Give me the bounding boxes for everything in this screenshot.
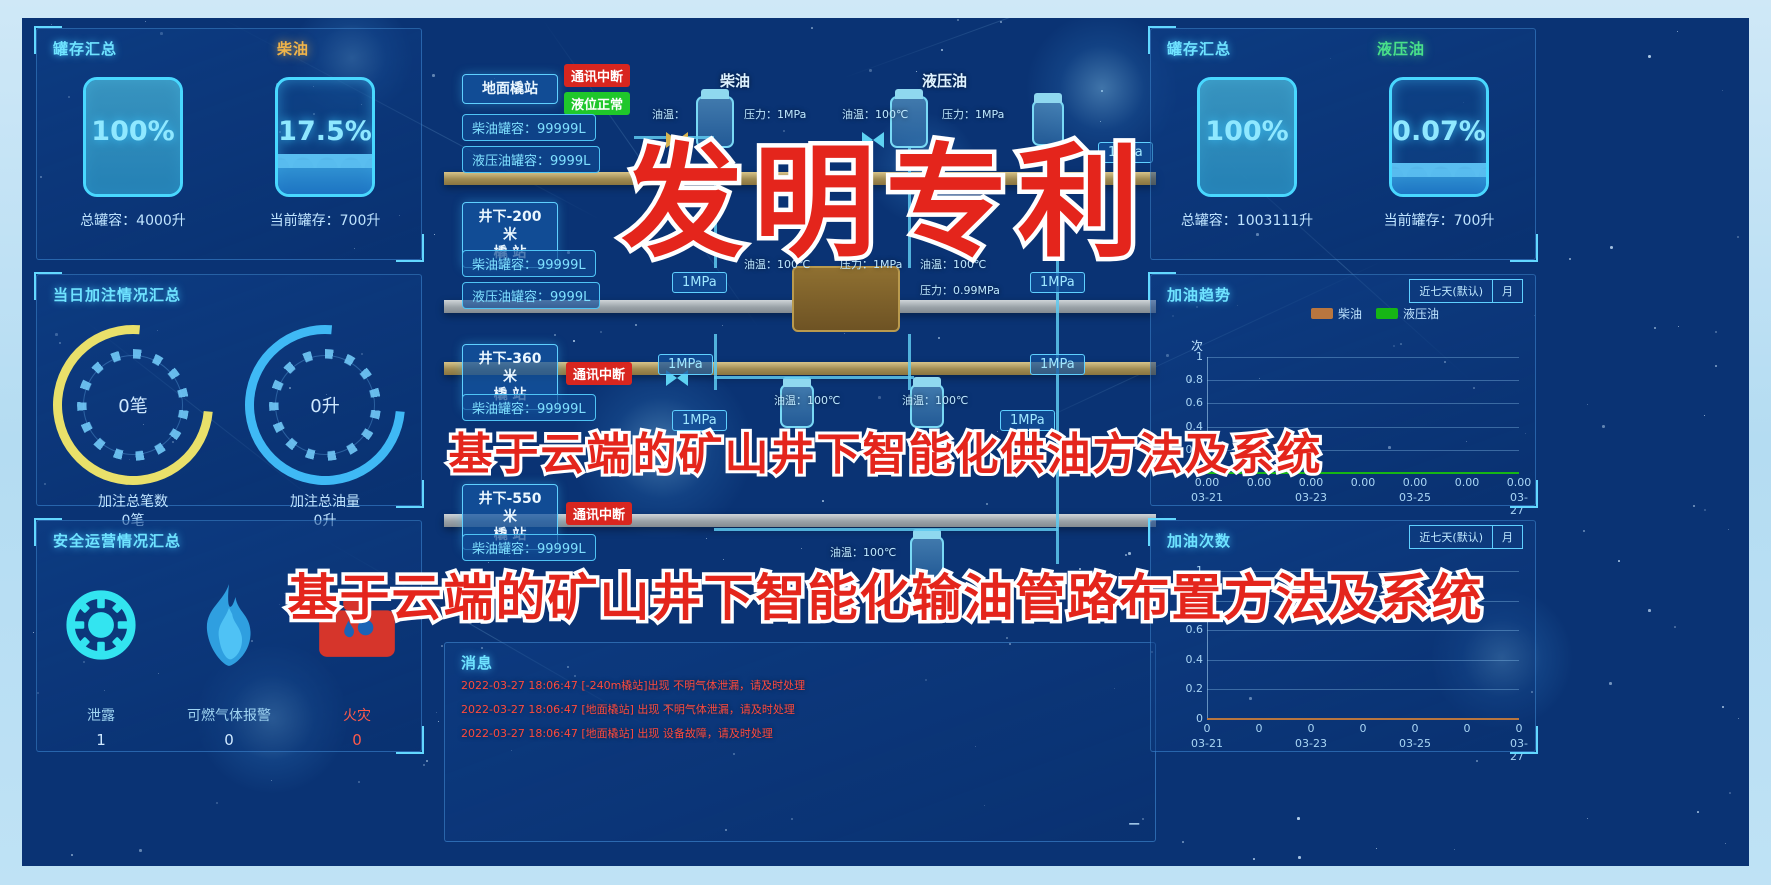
- safety-item-label: 火灾: [297, 705, 417, 725]
- panel-title: 罐存汇总: [53, 38, 117, 59]
- tank-percent: 0.07%: [1392, 116, 1486, 147]
- tank-percent: 17.5%: [278, 116, 372, 147]
- station-surface-label[interactable]: 地面橇站: [462, 74, 558, 104]
- tank-total-capacity: 100% 总罐容：1003111升: [1172, 77, 1322, 230]
- capacity-diesel-surface: 柴油罐容：99999L: [462, 114, 596, 141]
- tank-shape: 100%: [1197, 77, 1297, 197]
- range-button-month[interactable]: 月: [1492, 279, 1523, 303]
- tank-percent: 100%: [86, 116, 180, 147]
- refuel-gauge-row: 0笔 加注总笔数 0笔 0升 加注总油量 0升: [37, 325, 421, 485]
- capacity-diesel-200m: 柴油罐容：99999L: [462, 250, 596, 277]
- panel-diesel-tank-summary: 罐存汇总 柴油 100% 总罐容：4000升 17.5% 当前罐存：700升: [36, 28, 422, 260]
- safety-item-gas-alarm: 可燃气体报警 0: [169, 579, 289, 749]
- flame-icon: [169, 579, 289, 671]
- message-log-panel: 消息 2022-03-27 18:06:47 [-240m橇站]出现 不明气体泄…: [444, 642, 1156, 842]
- range-button-week[interactable]: 近七天(默认): [1409, 279, 1492, 303]
- gauge-caption-line1: 加注总油量: [290, 494, 360, 510]
- status-badge-comm: 通讯中断: [564, 64, 630, 87]
- watermark-title: 发明专利: [622, 104, 1150, 281]
- pipe-cross-360m: [714, 376, 914, 379]
- tank-caption: 当前罐存：700升: [250, 210, 400, 230]
- gauge-refuel-count: 0笔 加注总笔数 0笔: [53, 325, 213, 485]
- tank-shape: 17.5%: [275, 77, 375, 197]
- product-label-diesel: 柴油: [277, 38, 309, 59]
- tank-current-stock: 0.07% 当前罐存：700升: [1364, 77, 1514, 230]
- watermark-line1: 基于云端的矿山井下智能化供油方法及系统: [449, 418, 1323, 482]
- sensor-tag: 压力：0.99MPa: [920, 282, 1000, 298]
- gear-icon: [41, 579, 161, 671]
- status-badge-level: 液位正常: [564, 92, 630, 115]
- tank-caption: 总罐容：1003111升: [1172, 210, 1322, 230]
- gauge-caption-line1: 加注总笔数: [98, 494, 168, 510]
- station-label-line1: 井下-550米: [478, 491, 541, 525]
- gauge-value: 0笔: [53, 325, 213, 485]
- pipe-cross-550m: [714, 528, 1058, 531]
- range-button-group[interactable]: 近七天(默认) 月: [1409, 525, 1523, 549]
- station-label-line1: 井下-360米: [478, 351, 541, 385]
- sensor-tag: 油温：100℃: [774, 392, 840, 408]
- message-line: 2022-03-27 18:06:47 [地面橇站] 出现 不明气体泄漏，请及时…: [461, 701, 795, 717]
- tank-caption: 当前罐存：700升: [1364, 210, 1514, 230]
- safety-item-label: 可燃气体报警: [169, 705, 289, 725]
- panel-safety-summary: 安全运营情况汇总: [36, 520, 422, 752]
- tank-current-stock: 17.5% 当前罐存：700升: [250, 77, 400, 230]
- column-header-hydraulic: 液压油: [922, 70, 967, 91]
- panel-title: 加油次数: [1167, 530, 1231, 551]
- tank-total-capacity: 100% 总罐容：4000升: [58, 77, 208, 230]
- pressure-tag: 1MPa: [658, 354, 713, 375]
- panel-title: 加油趋势: [1167, 284, 1231, 305]
- safety-item-label: 泄露: [41, 705, 161, 725]
- panel-title: 当日加注情况汇总: [53, 284, 181, 305]
- range-button-group[interactable]: 近七天(默认) 月: [1409, 279, 1523, 303]
- message-line: 2022-03-27 18:06:47 [-240m橇站]出现 不明气体泄漏，请…: [461, 677, 805, 693]
- range-button-week[interactable]: 近七天(默认): [1409, 525, 1492, 549]
- dashboard-board: 罐存汇总 柴油 100% 总罐容：4000升 17.5% 当前罐存：700升: [22, 18, 1749, 866]
- screenshot-root: 罐存汇总 柴油 100% 总罐容：4000升 17.5% 当前罐存：700升: [0, 0, 1771, 885]
- range-button-month[interactable]: 月: [1492, 525, 1523, 549]
- safety-item-value: 0: [297, 731, 417, 749]
- sensor-tag: 油温：100℃: [902, 392, 968, 408]
- panel-title: 消息: [461, 652, 493, 673]
- status-badge-comm-550m: 通讯中断: [566, 502, 632, 525]
- capacity-hydraulic-200m: 液压油罐容：9999L: [462, 282, 600, 309]
- pressure-tag: 1MPa: [1030, 354, 1085, 375]
- capacity-diesel-360m: 柴油罐容：99999L: [462, 394, 596, 421]
- message-line: 2022-03-27 18:06:47 [地面橇站] 出现 设备故障，请及时处理: [461, 725, 773, 741]
- pipe-vertical-hydraulic-2: [908, 334, 911, 390]
- safety-item-value: 1: [41, 731, 161, 749]
- tank-percent: 100%: [1200, 116, 1294, 147]
- gauge-refuel-volume: 0升 加注总油量 0升: [245, 325, 405, 485]
- column-header-diesel: 柴油: [720, 70, 750, 91]
- panel-title: 罐存汇总: [1167, 38, 1231, 59]
- panel-hydraulic-tank-summary: 罐存汇总 液压油 100% 总罐容：1003111升 0.07% 当前罐存：70…: [1150, 28, 1536, 260]
- tank-shape: 0.07%: [1389, 77, 1489, 197]
- tank-caption: 总罐容：4000升: [58, 210, 208, 230]
- pipe-vertical-diesel-2: [714, 334, 717, 390]
- safety-item-leak: 泄露 1: [41, 579, 161, 749]
- tank-gauge-row: 100% 总罐容：1003111升 0.07% 当前罐存：700升: [1151, 77, 1535, 230]
- minus-icon[interactable]: −: [1128, 814, 1141, 833]
- status-badge-comm-360m: 通讯中断: [566, 362, 632, 385]
- capacity-hydraulic-surface: 液压油罐容：9999L: [462, 146, 600, 173]
- panel-refuel-count: 加油次数 近七天(默认) 月 10.80.60.40.20003-210003-…: [1150, 520, 1536, 752]
- station-label-line1: 井下-200米: [478, 209, 541, 243]
- gauge-value: 0升: [245, 325, 405, 485]
- watermark-line2: 基于云端的矿山井下智能化输油管路布置方法及系统: [288, 558, 1484, 630]
- product-label-hydraulic: 液压油: [1377, 38, 1425, 59]
- tank-gauge-row: 100% 总罐容：4000升 17.5% 当前罐存：700升: [37, 77, 421, 230]
- tank-shape: 100%: [83, 77, 183, 197]
- panel-daily-refuel-summary: 当日加注情况汇总 0笔 加注总笔数 0笔 0升: [36, 274, 422, 506]
- panel-title: 安全运营情况汇总: [53, 530, 181, 551]
- safety-item-value: 0: [169, 731, 289, 749]
- capacity-diesel-550m: 柴油罐容：99999L: [462, 534, 596, 561]
